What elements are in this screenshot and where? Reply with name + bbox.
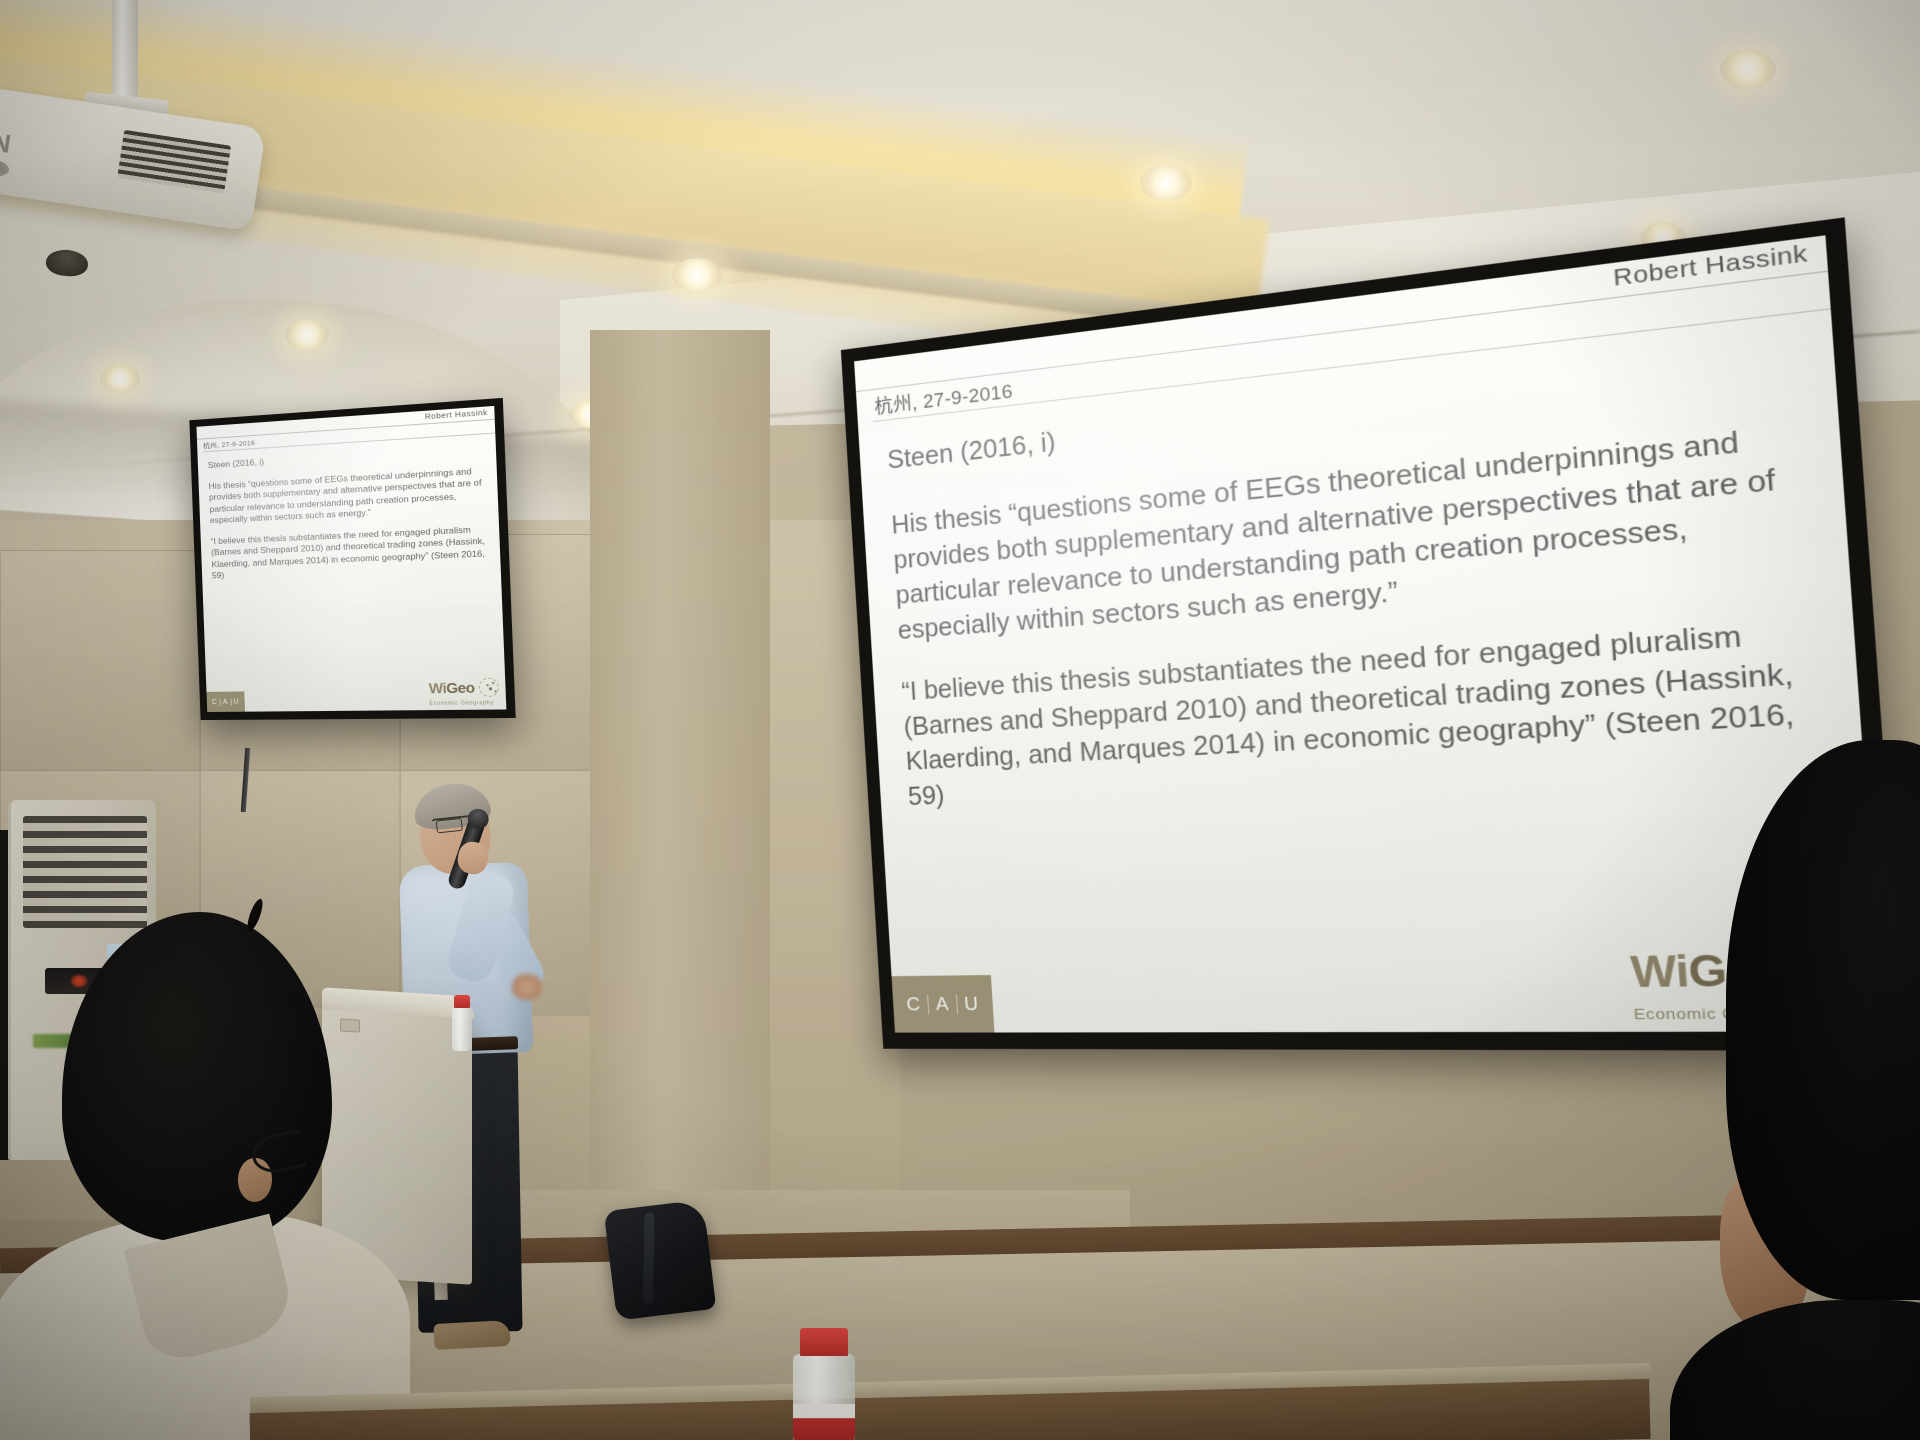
projector-ceiling-pole: [112, 0, 138, 110]
wigeo-wi-text: Wi: [1629, 948, 1690, 997]
audience-left-hair: [62, 912, 332, 1242]
backpack-on-floor: [604, 1199, 717, 1320]
slide-header-rule: [197, 419, 495, 440]
slide-body: Steen (2016, i) His thesis “questions so…: [208, 442, 495, 591]
audience-right-shoulders: [1670, 1300, 1920, 1440]
wigeo-globe-icon: [478, 678, 499, 697]
projector-vent-grille: [117, 130, 231, 193]
projector-brand-label: PSON: [0, 118, 15, 161]
bottle-cap: [454, 995, 469, 1008]
water-bottle-on-lectern: [452, 995, 472, 1051]
slide-paragraph-1: His thesis “questions some of EEGs theor…: [208, 464, 491, 527]
ceiling-downlight: [1720, 50, 1776, 88]
presenter-shoe: [433, 1320, 510, 1350]
bottle-body: [452, 1007, 472, 1051]
cau-letter-a: A: [928, 994, 958, 1014]
wigeo-geo-text: Geo: [446, 679, 475, 696]
audience-member-left: [30, 912, 360, 1440]
secondary-projection-screen: Robert Hassink 杭州, 27-9-2016 Steen (2016…: [189, 398, 515, 720]
bottle-cap: [800, 1328, 847, 1356]
bottle-label: [793, 1404, 855, 1440]
wall-column: [590, 330, 770, 1210]
cau-letter-u: U: [957, 994, 987, 1014]
cau-letter-c: C: [899, 995, 929, 1014]
ceiling-downlight: [100, 365, 140, 393]
cau-letter-u: U: [231, 698, 241, 705]
water-bottle-on-table: [793, 1328, 855, 1440]
cau-logo: C A U: [892, 975, 995, 1033]
cau-letter-c: C: [210, 698, 221, 705]
ceiling-downlight: [1140, 165, 1192, 201]
wigeo-logo-row: WiGeo: [428, 678, 499, 698]
audience-right-hair: [1726, 740, 1920, 1300]
slide-paragraph-2: “I believe this thesis substantiates the…: [210, 523, 494, 582]
ceiling-downlight: [285, 320, 329, 350]
wigeo-subtitle: Economic Geography: [429, 700, 494, 707]
secondary-screen-surface: Robert Hassink 杭州, 27-9-2016 Steen (2016…: [196, 406, 506, 712]
ceiling-downlight: [672, 258, 722, 292]
slide-footer: C A U WiGeo: [204, 618, 506, 712]
audience-member-right: [1690, 740, 1920, 1440]
wigeo-wi-text: Wi: [429, 679, 447, 696]
lecture-hall-photo: PSON Robert Hassink 杭州, 27-9-2016 Steen …: [0, 0, 1920, 1440]
slide-duplicate: Robert Hassink 杭州, 27-9-2016 Steen (2016…: [196, 406, 506, 712]
wigeo-logo: WiGeo Economic Geography: [428, 678, 499, 707]
presenter-gesturing-hand: [512, 974, 542, 1000]
cau-logo: C A U: [206, 691, 245, 712]
wall-panel: [0, 550, 200, 770]
cau-letter-a: A: [221, 698, 232, 705]
wigeo-wordmark: WiGeo: [429, 680, 475, 695]
